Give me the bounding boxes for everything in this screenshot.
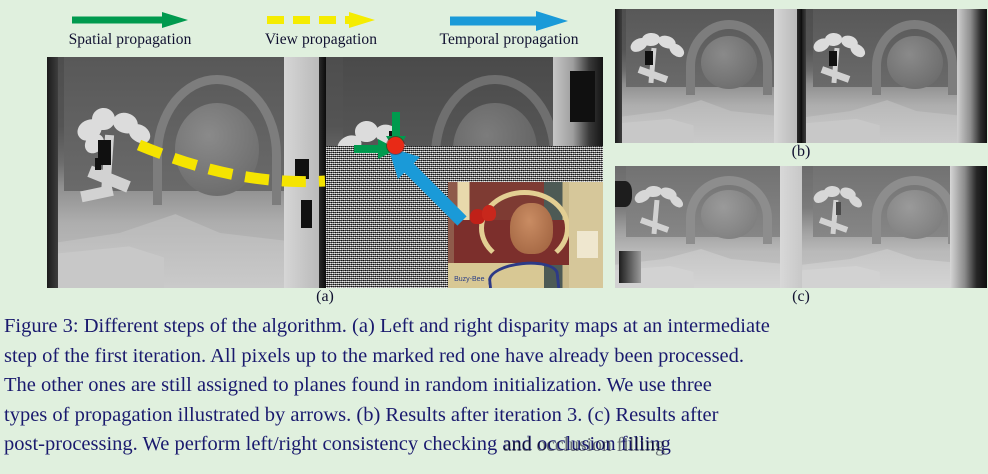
panel-c-label: (c)	[615, 288, 987, 306]
inset-reference-photo: Buzy-Bee	[448, 182, 603, 288]
panel-b-left-disparity-map	[615, 9, 802, 143]
caption-line: The other ones are still assigned to pla…	[4, 371, 984, 401]
legend-label-temporal-propagation: Temporal propagation	[439, 31, 578, 49]
legend-item-spatial-propagation: Spatial propagation	[32, 0, 228, 52]
dashed-arrow-right-icon	[265, 10, 377, 30]
marked-red-pixel	[387, 137, 404, 154]
arrow-right-icon	[70, 10, 190, 30]
legend-item-view-propagation: View propagation	[232, 0, 410, 52]
disparity-map-image	[615, 166, 802, 288]
panel-a-disparity-maps: Buzy-Bee	[47, 57, 603, 288]
caption-line: types of propagation illustrated by arro…	[4, 401, 984, 431]
caption-line-last: post-processing. We perform left/right c…	[4, 430, 984, 460]
panel-a-left-disparity-map	[47, 57, 326, 288]
disparity-map-image	[615, 9, 802, 143]
panel-c-results-post-processing	[615, 166, 987, 288]
disparity-map-image	[47, 57, 326, 288]
panel-a-right-disparity-map: Buzy-Bee	[326, 57, 603, 288]
inset-box-text: Buzy-Bee	[454, 276, 484, 283]
panel-c-left-disparity-map	[615, 166, 802, 288]
panel-a-label: (a)	[47, 288, 603, 306]
caption-line: step of the first iteration. All pixels …	[4, 342, 984, 372]
caption-overlap-over: and occlusion filling	[503, 431, 665, 461]
legend-label-view-propagation: View propagation	[265, 31, 377, 49]
panel-c-right-disparity-map	[802, 166, 987, 288]
panel-b-label: (b)	[615, 143, 987, 161]
disparity-map-image	[802, 166, 987, 288]
panel-b-results-iteration-3	[615, 9, 987, 143]
legend: Spatial propagation View propagation Tem…	[0, 0, 604, 52]
legend-item-temporal-propagation: Temporal propagation	[414, 0, 604, 52]
caption-last-prefix: post-processing. We perform left/right c…	[4, 433, 502, 455]
legend-label-spatial-propagation: Spatial propagation	[69, 31, 192, 49]
disparity-map-image	[802, 9, 987, 143]
figure-caption: Figure 3: Different steps of the algorit…	[4, 312, 984, 460]
arrow-right-icon	[448, 10, 570, 32]
caption-line: Figure 3: Different steps of the algorit…	[4, 312, 984, 342]
caption-overlapping-text: and occlusion fillingand occlusion filli…	[502, 430, 671, 460]
panel-b-right-disparity-map	[802, 9, 987, 143]
